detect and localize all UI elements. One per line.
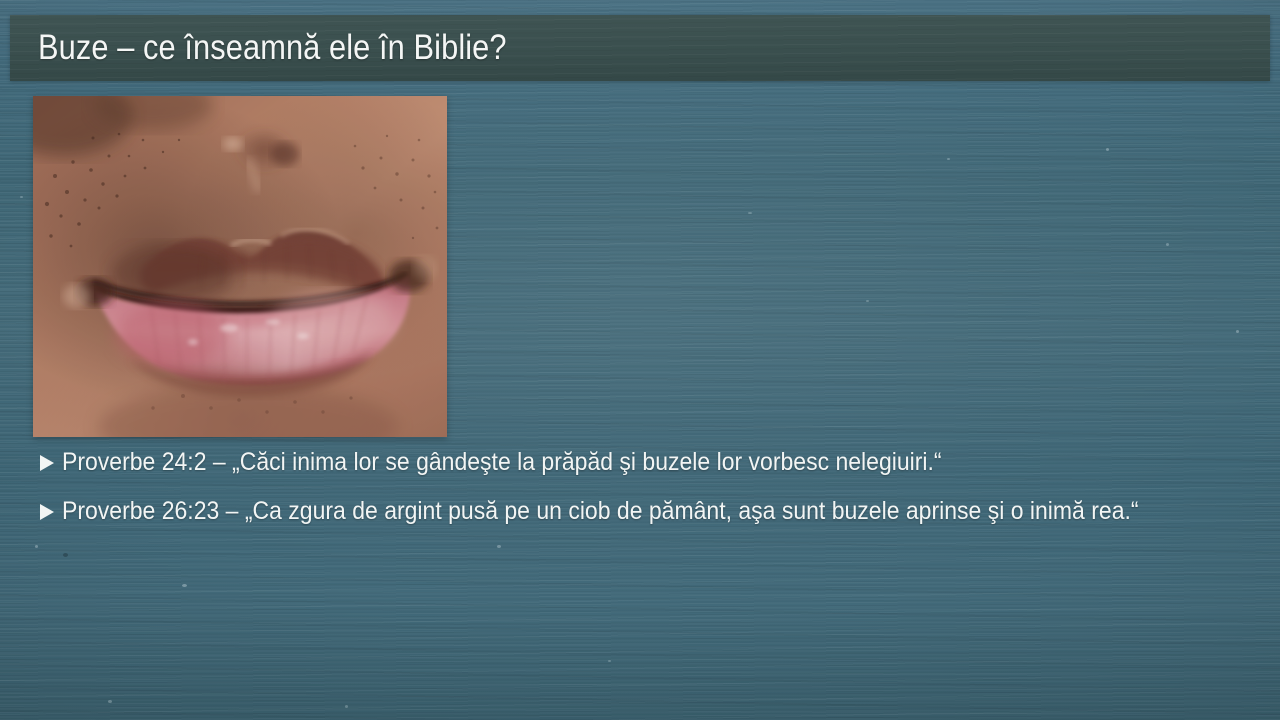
- bullet-triangle-icon: [38, 443, 60, 481]
- lips-photo-graphic: [33, 96, 447, 437]
- list-item: Proverbe 26:23 – „Ca zgura de argint pus…: [38, 492, 1263, 530]
- bullet-text: Proverbe 26:23 – „Ca zgura de argint pus…: [62, 492, 1139, 530]
- slide-title: Buze – ce înseamnă ele în Biblie?: [38, 28, 507, 68]
- lips-closeup-photo: [33, 96, 447, 437]
- bullet-triangle-icon: [38, 492, 60, 530]
- bullet-list: Proverbe 24:2 – „Căci inima lor se gânde…: [38, 443, 1263, 541]
- bullet-text: Proverbe 24:2 – „Căci inima lor se gânde…: [62, 443, 942, 481]
- list-item: Proverbe 24:2 – „Căci inima lor se gânde…: [38, 443, 1263, 481]
- presentation-slide: Buze – ce înseamnă ele în Biblie?: [0, 0, 1280, 720]
- title-banner: Buze – ce înseamnă ele în Biblie?: [10, 15, 1270, 81]
